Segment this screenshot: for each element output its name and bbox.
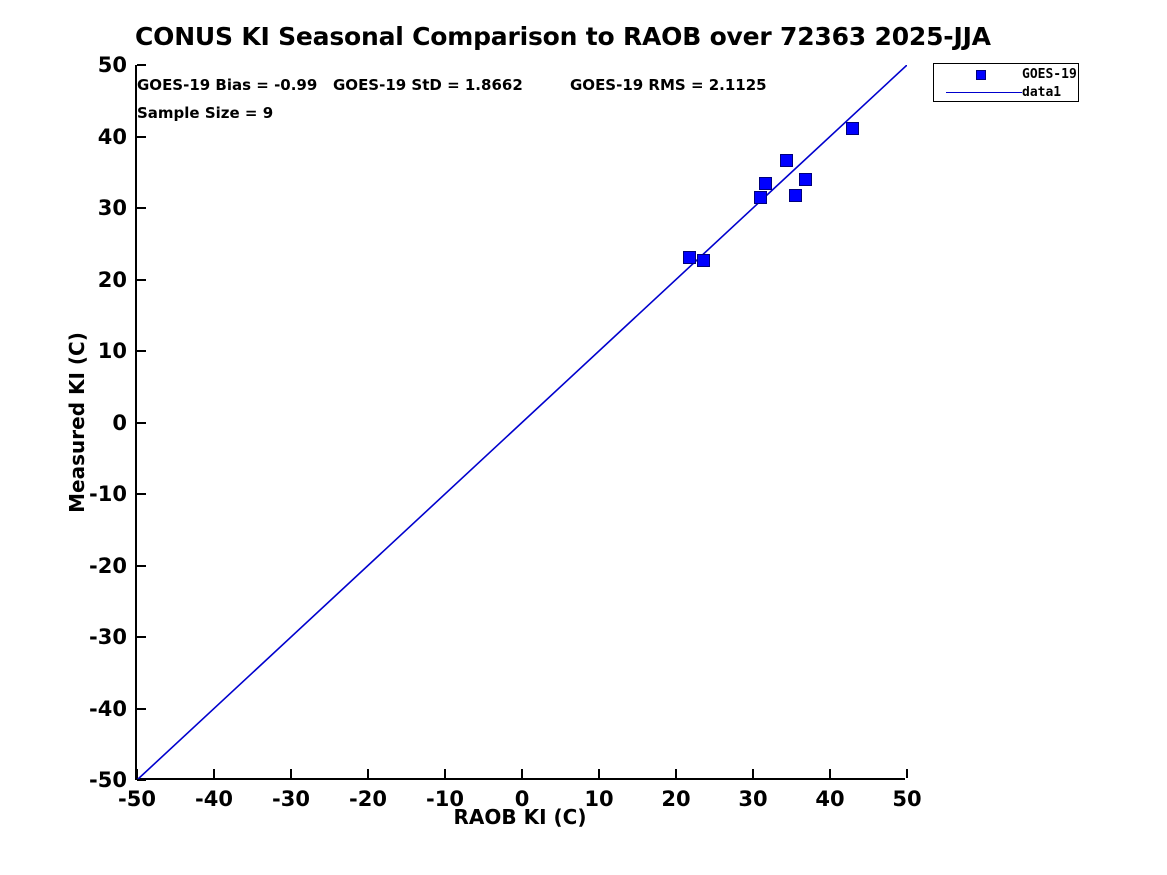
y-axis-title: Measured KI (C) — [62, 65, 92, 780]
chart-legend[interactable]: GOES-19 data1 — [933, 63, 1079, 102]
square-marker-icon — [976, 70, 986, 80]
y-tick-label: 30 — [98, 196, 127, 220]
x-tick-mark — [521, 769, 523, 778]
y-tick-mark — [137, 493, 146, 495]
x-tick-mark — [367, 769, 369, 778]
x-tick-mark — [675, 769, 677, 778]
y-tick-label: 40 — [98, 125, 127, 149]
plot-area: -50-40-30-20-1001020304050-50-40-30-20-1… — [135, 65, 905, 780]
scatter-point — [697, 254, 710, 267]
y-tick-label: -40 — [89, 697, 127, 721]
y-tick-label: -20 — [89, 554, 127, 578]
identity-line-data1 — [137, 65, 907, 780]
y-tick-label: 10 — [98, 339, 127, 363]
scatter-point — [789, 189, 802, 202]
legend-line-sample — [942, 83, 1018, 102]
y-tick-mark — [137, 779, 146, 781]
scatter-point — [846, 122, 859, 135]
scatter-point — [759, 177, 772, 190]
x-axis-title: RAOB KI (C) — [135, 805, 905, 829]
scatter-point — [683, 251, 696, 264]
legend-marker-sample — [942, 65, 1018, 84]
legend-item-goes19[interactable]: GOES-19 — [934, 65, 1078, 84]
y-tick-mark — [137, 279, 146, 281]
y-tick-mark — [137, 708, 146, 710]
x-tick-mark — [213, 769, 215, 778]
legend-item-data1[interactable]: data1 — [934, 83, 1078, 102]
x-tick-mark — [290, 769, 292, 778]
x-tick-mark — [444, 769, 446, 778]
y-tick-mark — [137, 207, 146, 209]
y-tick-label: 0 — [112, 411, 127, 435]
y-tick-mark — [137, 136, 146, 138]
scatter-point — [754, 191, 767, 204]
x-tick-mark — [829, 769, 831, 778]
x-tick-mark — [136, 769, 138, 778]
page-title: CONUS KI Seasonal Comparison to RAOB ove… — [135, 22, 905, 51]
x-tick-mark — [906, 769, 908, 778]
scatter-point — [780, 154, 793, 167]
y-tick-mark — [137, 350, 146, 352]
line-segment-icon — [946, 92, 1022, 93]
legend-label-goes19: GOES-19 — [1022, 65, 1077, 84]
y-tick-mark — [137, 636, 146, 638]
legend-label-data1: data1 — [1022, 83, 1061, 102]
y-tick-label: -30 — [89, 625, 127, 649]
y-tick-mark — [137, 64, 146, 66]
figure-canvas: CONUS KI Seasonal Comparison to RAOB ove… — [0, 0, 1167, 875]
y-tick-mark — [137, 422, 146, 424]
x-tick-mark — [598, 769, 600, 778]
y-tick-label: -10 — [89, 482, 127, 506]
plot-canvas — [137, 65, 907, 780]
scatter-point — [799, 173, 812, 186]
x-tick-mark — [752, 769, 754, 778]
y-tick-mark — [137, 565, 146, 567]
y-tick-label: 50 — [98, 53, 127, 77]
y-tick-label: 20 — [98, 268, 127, 292]
